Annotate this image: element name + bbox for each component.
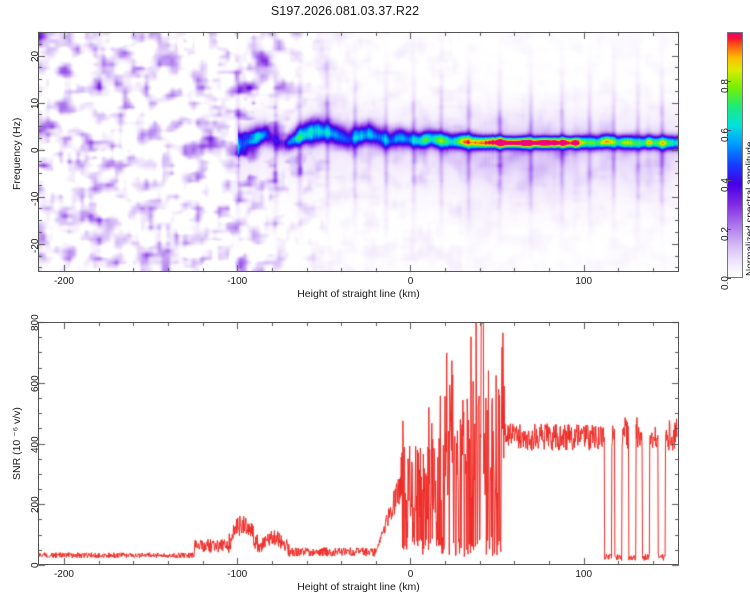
x-tick-label: -200 — [48, 276, 80, 287]
colorbar-tick-mark — [727, 81, 731, 82]
x-tick-label: -100 — [221, 569, 253, 580]
y-tick-label: -20 — [30, 238, 41, 252]
x-tick-label: 100 — [568, 569, 600, 580]
y-tick-label: 0 — [30, 562, 41, 568]
x-tick-label: 0 — [394, 276, 426, 287]
figure-root: S197.2026.081.03.37.R22 Height of straig… — [0, 0, 750, 600]
y-tick-label: 600 — [30, 375, 41, 392]
x-tick-label: 0 — [394, 569, 426, 580]
spectrogram-y-axis-title: Frequency (Hz) — [11, 118, 23, 190]
colorbar-tick-mark — [727, 130, 731, 131]
spectrogram-panel — [38, 32, 679, 272]
colorbar-tick-mark — [727, 180, 731, 181]
colorbar — [727, 32, 743, 278]
snr-x-axis-title: Height of straight line (km) — [38, 581, 679, 593]
page-title: S197.2026.081.03.37.R22 — [0, 4, 690, 18]
colorbar-title: Normalized spectral amplitude — [745, 141, 750, 276]
snr-canvas — [39, 323, 678, 564]
x-tick-label: 100 — [568, 276, 600, 287]
colorbar-gradient — [727, 32, 743, 278]
y-tick-label: 800 — [30, 314, 41, 331]
x-tick-label: -100 — [221, 276, 253, 287]
colorbar-tick-mark — [727, 278, 731, 279]
y-tick-label: -10 — [30, 191, 41, 205]
snr-y-axis-title: SNR (10 ⁻⁶ v/v) — [11, 407, 23, 480]
spectrogram-x-axis-title: Height of straight line (km) — [38, 288, 679, 300]
spectrogram-canvas — [39, 33, 678, 271]
y-tick-label: 200 — [30, 497, 41, 514]
colorbar-tick-mark — [727, 229, 731, 230]
y-tick-label: 20 — [30, 50, 41, 61]
x-tick-label: -200 — [48, 569, 80, 580]
y-tick-label: 10 — [30, 97, 41, 108]
y-tick-label: 400 — [30, 436, 41, 453]
y-tick-label: 0 — [30, 147, 41, 153]
snr-panel — [38, 322, 679, 565]
